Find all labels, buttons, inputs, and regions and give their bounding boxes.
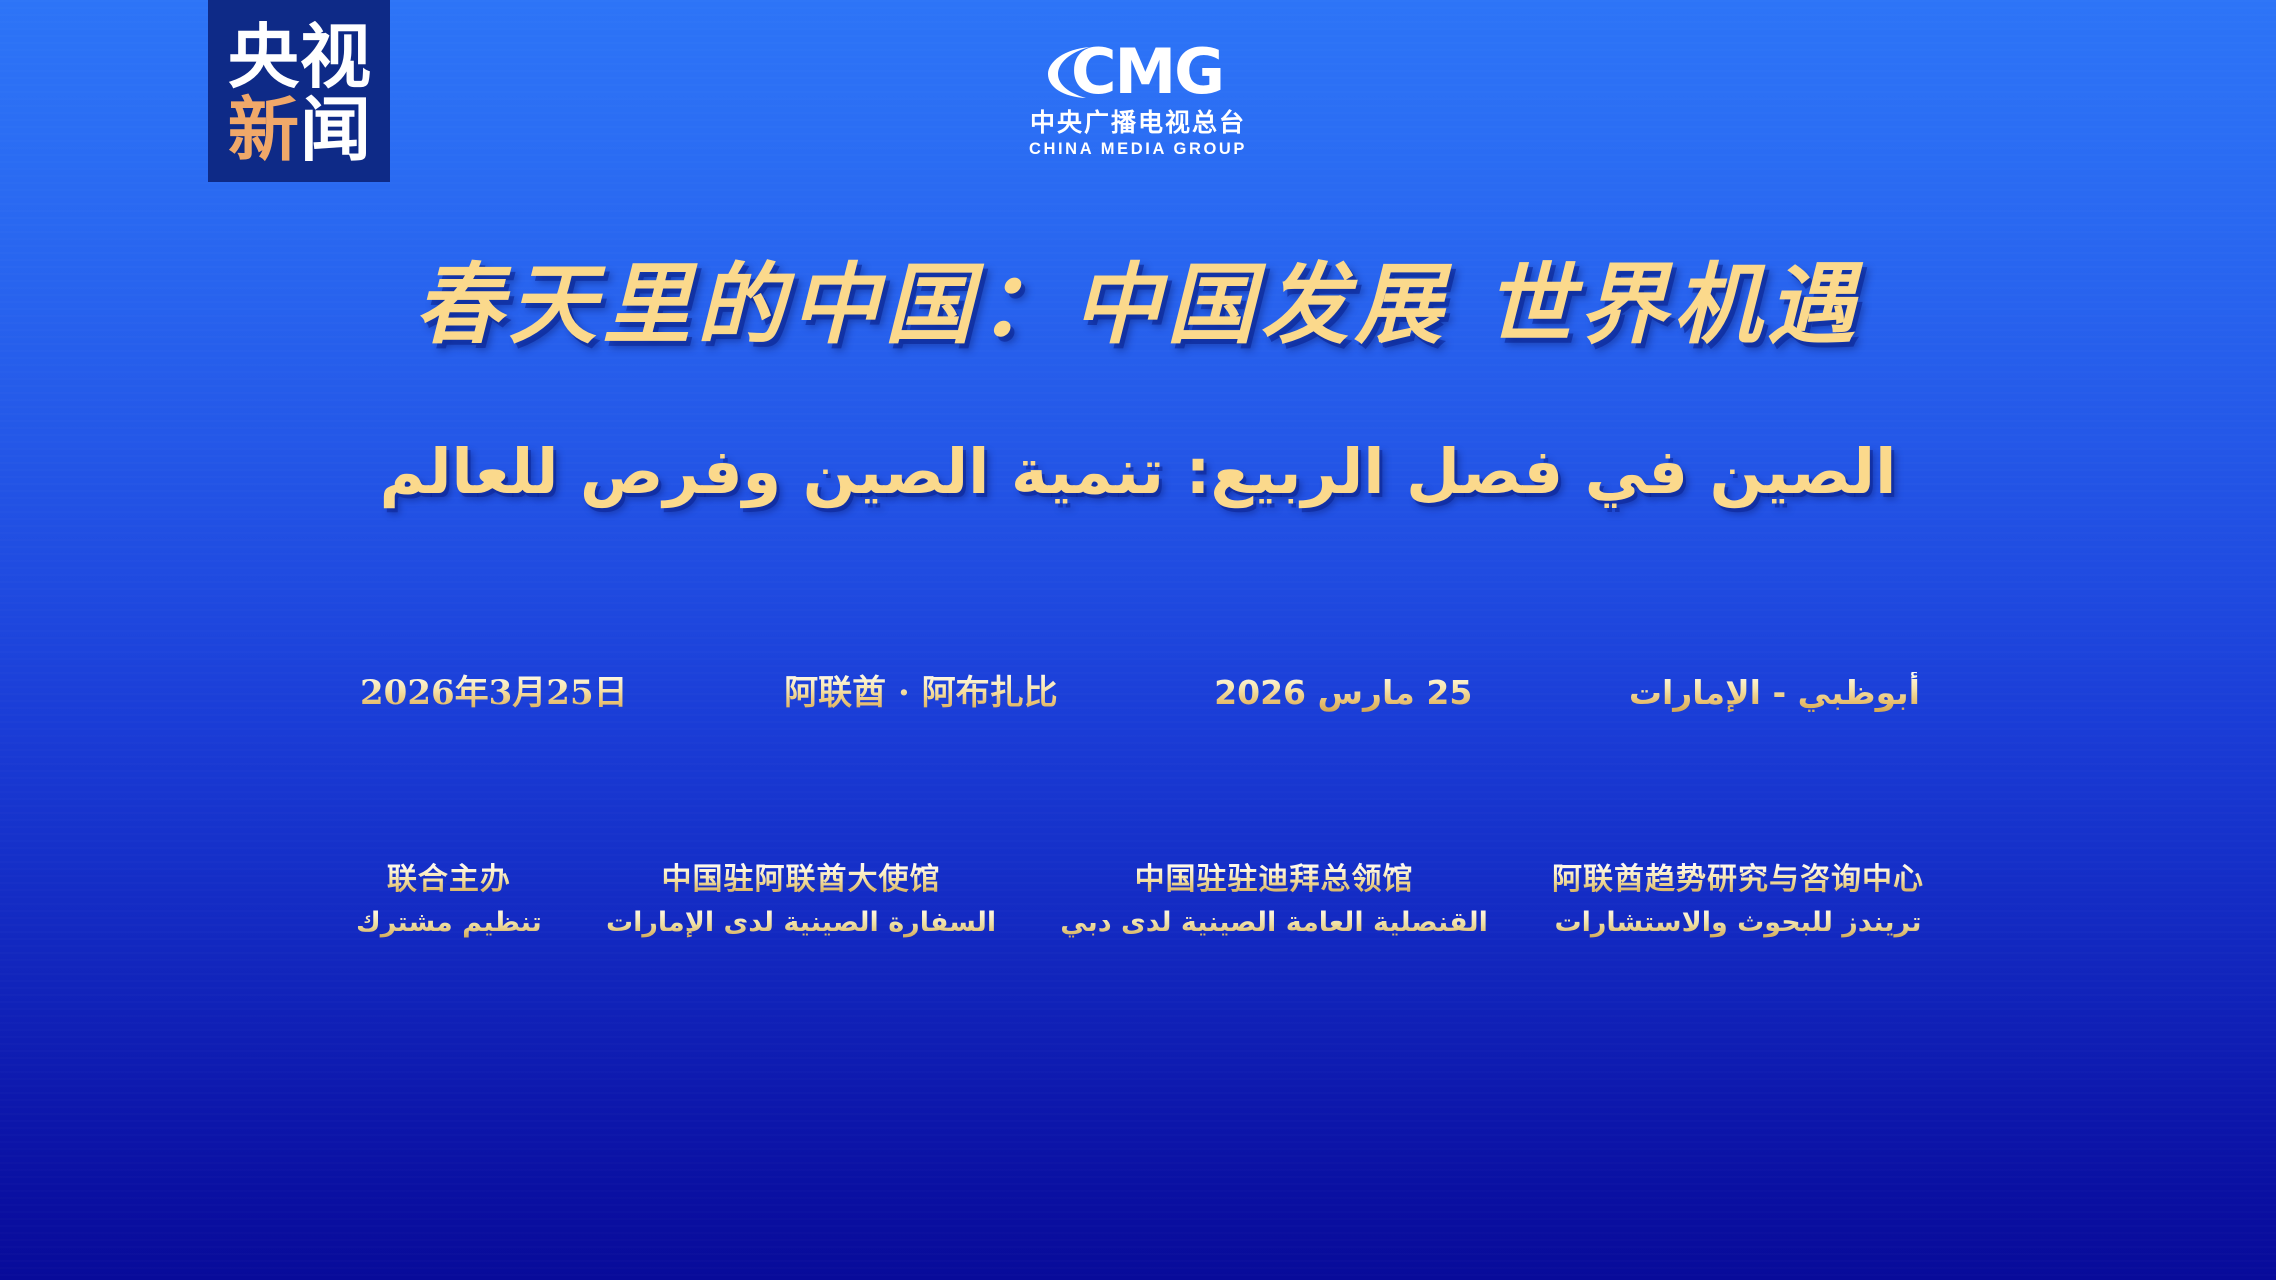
- organizer-name-chinese: 中国驻驻迪拜总领馆: [1060, 860, 1488, 899]
- event-date-arabic: 25 مارس 2026: [1214, 672, 1472, 713]
- cmg-logo-chinese: 中央广播电视总台: [988, 109, 1288, 137]
- organizer-name-chinese: 联合主办: [356, 860, 542, 899]
- organizer-name-chinese: 阿联酋趋势研究与咨询中心: [1552, 860, 1924, 899]
- cctv-news-logo[interactable]: 央 视 新 闻: [208, 0, 390, 182]
- background-banding: [0, 0, 2276, 1280]
- event-location-arabic: أبوظبي - الإمارات: [1629, 672, 1920, 713]
- page-title-arabic: الصين في فصل الربيع: تنمية الصين وفرص لل…: [0, 430, 2276, 514]
- cctv-logo-glyph-yang: 央: [226, 23, 299, 92]
- organizer-name-chinese: 中国驻阿联酋大使馆: [606, 860, 996, 899]
- organizer-name-arabic: تنظيم مشترك: [356, 903, 542, 942]
- event-poster: 央 视 新 闻 CMG 中央广播电视总台 CHINA MEDIA GROUP 春…: [0, 0, 2276, 1280]
- organizers-row: 联合主办 تنظيم مشترك 中国驻阿联酋大使馆 السفارة الصين…: [356, 860, 1924, 942]
- page-title-chinese: 春天里的中国：中国发展 世界机遇: [0, 252, 2276, 358]
- organizer-trends-research-uae: 阿联酋趋势研究与咨询中心 تريندز للبحوث والاستشارات: [1552, 860, 1924, 942]
- cctv-logo-glyph-shi: 视: [298, 23, 371, 92]
- organizer-chinese-embassy-uae: 中国驻阿联酋大使馆 السفارة الصينية لدى الإمارات: [606, 860, 996, 942]
- cmg-swoosh-icon: [1046, 44, 1098, 100]
- event-location-chinese: 阿联酋 · 阿布扎比: [784, 672, 1058, 715]
- cmg-logo-english: CHINA MEDIA GROUP: [988, 140, 1288, 158]
- cmg-logo[interactable]: CMG 中央广播电视总台 CHINA MEDIA GROUP: [988, 38, 1288, 158]
- cctv-logo-glyph-xin: 新: [226, 96, 299, 165]
- event-date-chinese: 2026年3月25日: [360, 672, 628, 715]
- organizer-name-arabic: القنصلية العامة الصينية لدى دبي: [1060, 903, 1488, 942]
- event-meta-row: 2026年3月25日 阿联酋 · 阿布扎比 25 مارس 2026 أبوظب…: [360, 672, 1920, 715]
- organizer-chinese-consulate-dubai: 中国驻驻迪拜总领馆 القنصلية العامة الصينية لدى دب…: [1060, 860, 1488, 942]
- cmg-logo-mark: CMG: [988, 38, 1288, 106]
- cctv-logo-glyph-wen: 闻: [298, 96, 371, 165]
- organizer-co-organized-label: 联合主办 تنظيم مشترك: [356, 860, 542, 942]
- organizer-name-arabic: السفارة الصينية لدى الإمارات: [606, 903, 996, 942]
- cctv-logo-line-2: 新 闻: [227, 96, 371, 165]
- organizer-name-arabic: تريندز للبحوث والاستشارات: [1552, 903, 1924, 942]
- cctv-logo-line-1: 央 视: [227, 23, 371, 92]
